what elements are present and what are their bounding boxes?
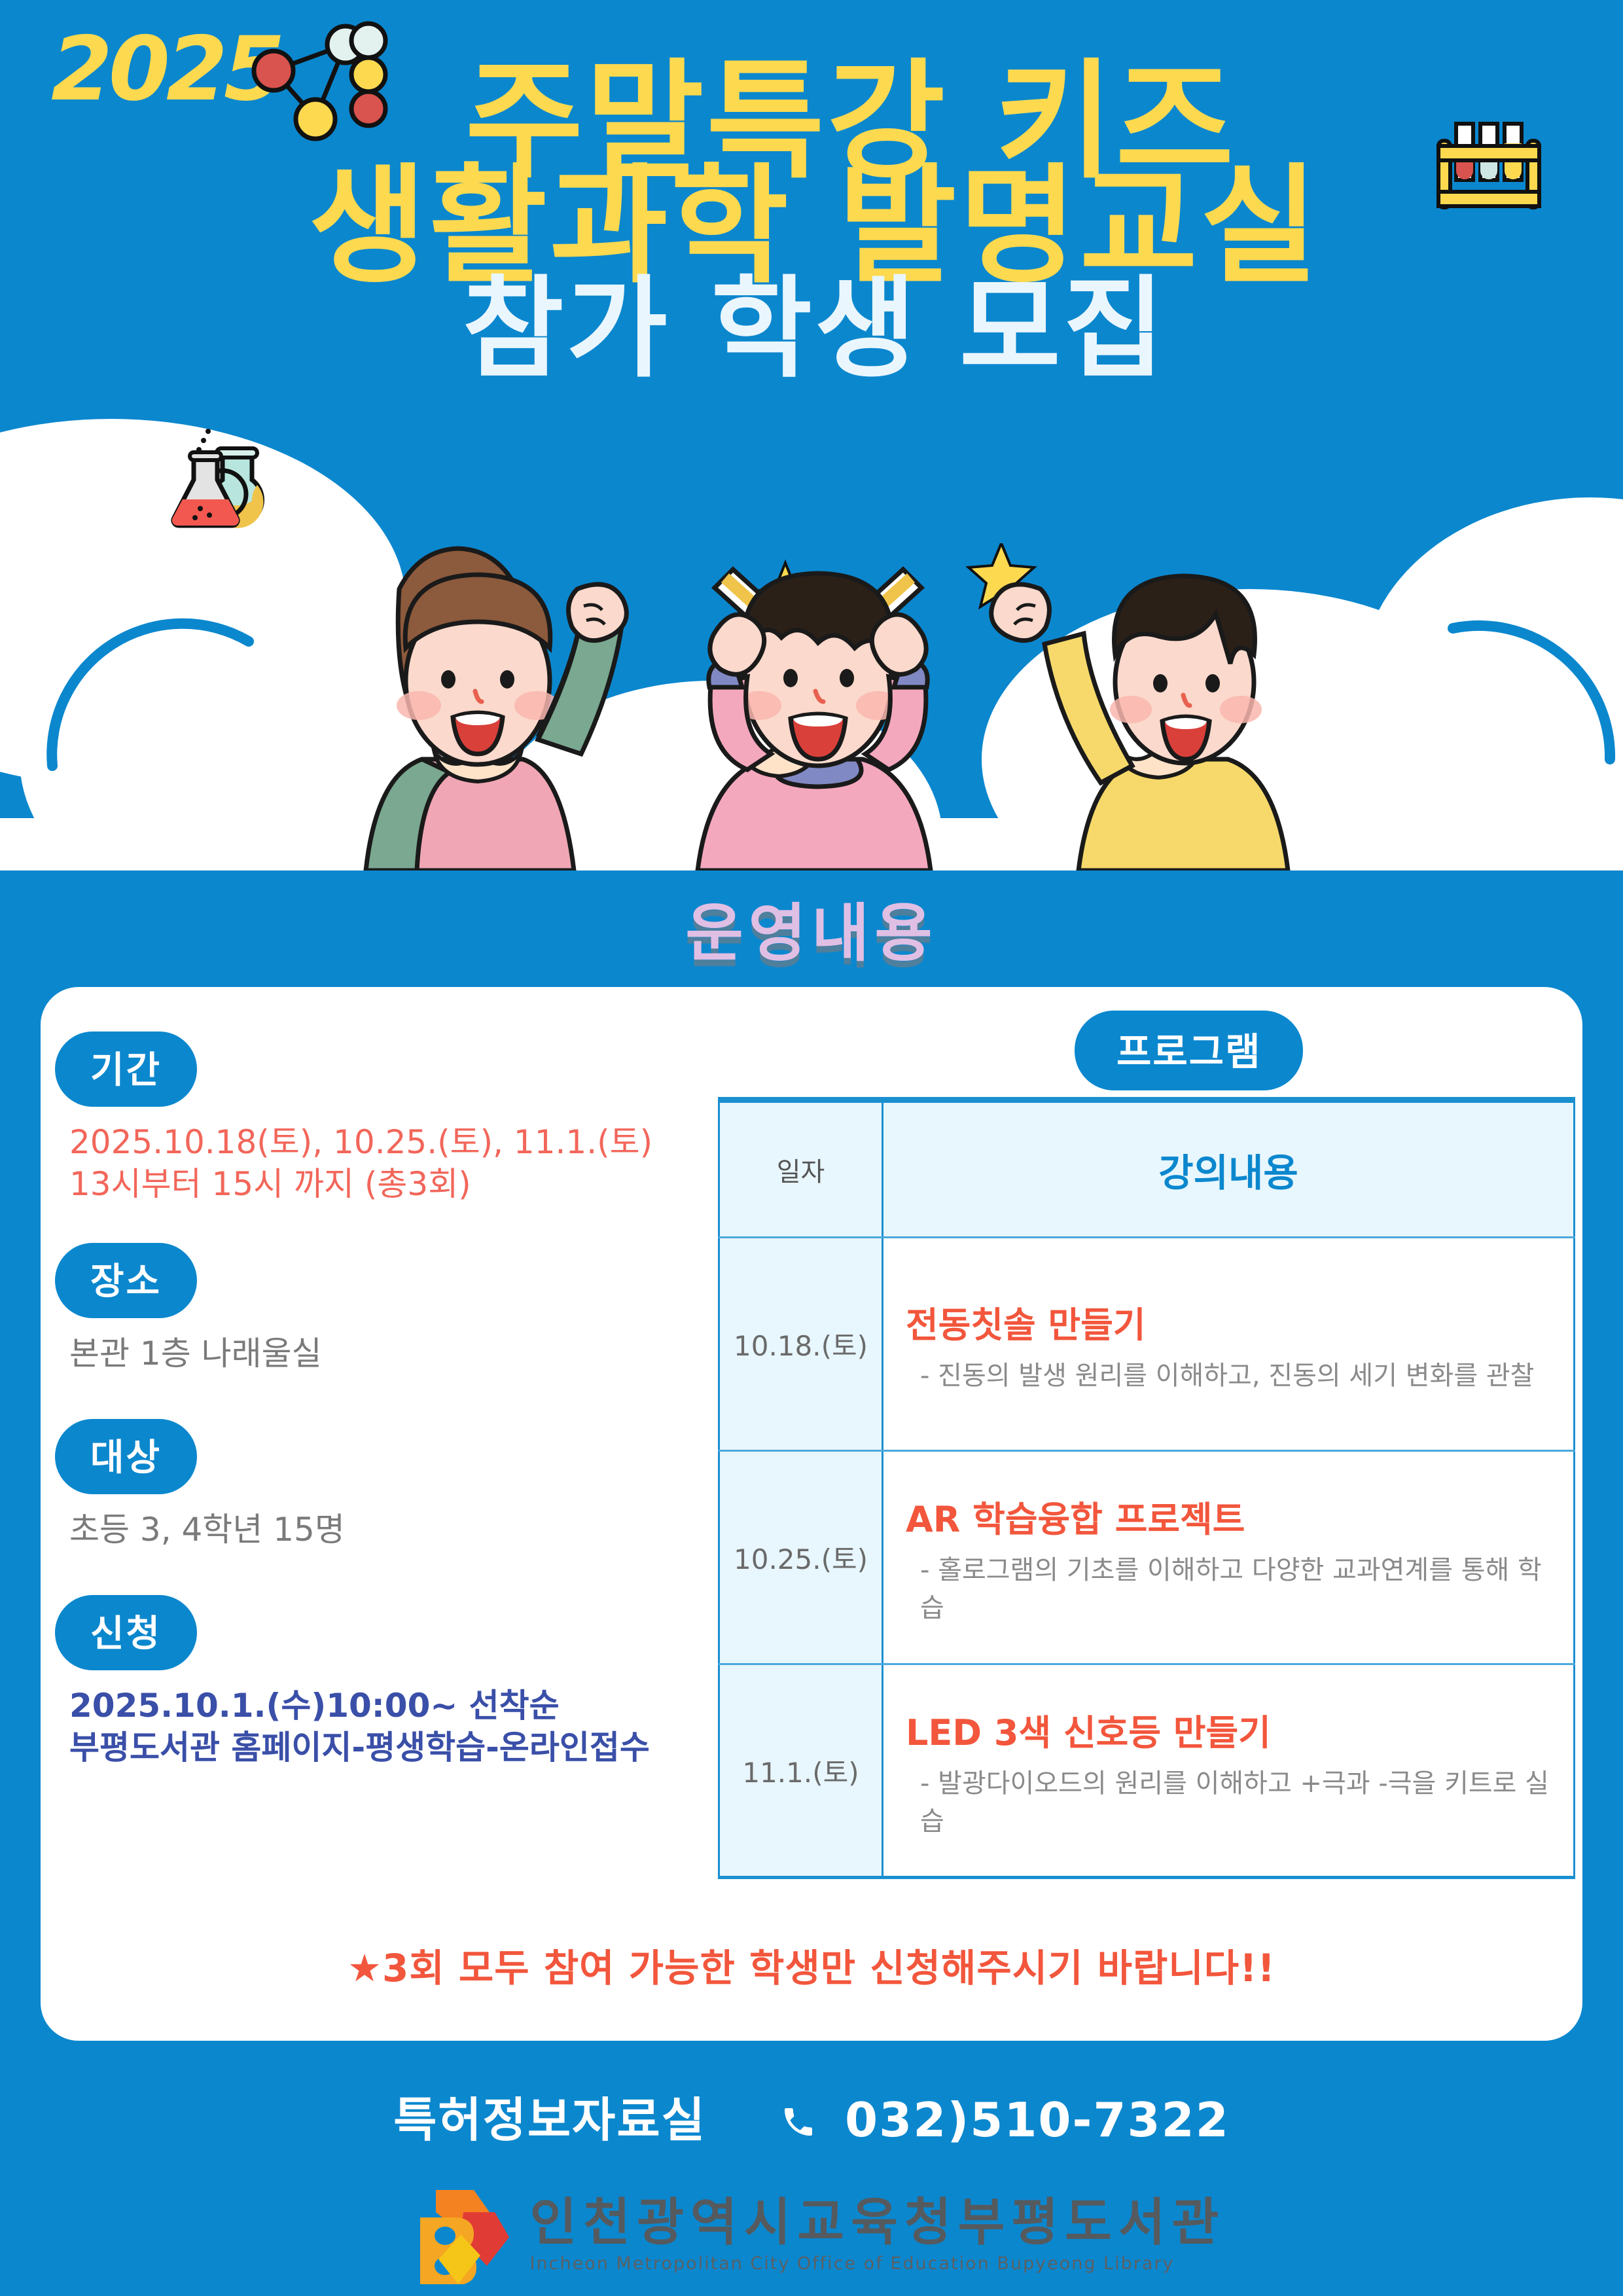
info-place: 장소 본관 1층 나래울실	[55, 1243, 683, 1374]
period-value: 2025.10.18(토), 10.25.(토), 11.1.(토) 13시부터…	[55, 1121, 683, 1205]
info-period: 기간 2025.10.18(토), 10.25.(토), 11.1.(토) 13…	[55, 1031, 683, 1205]
chip-target: 대상	[55, 1419, 197, 1494]
row-content: AR 학습융합 프로젝트 - 홀로그램의 기초를 이해하고 다양한 교과연계를 …	[883, 1451, 1575, 1664]
content-panel: 기간 2025.10.18(토), 10.25.(토), 11.1.(토) 13…	[41, 987, 1582, 2041]
table-row: 10.25.(토) AR 학습융합 프로젝트 - 홀로그램의 기초를 이해하고 …	[719, 1451, 1575, 1664]
hero-section: 2025	[0, 0, 1623, 870]
logo-mark-icon	[398, 2186, 513, 2284]
headline-block: 주말특강 키즈 생활과학 발명교실 참가 학생 모집	[0, 62, 1623, 380]
chip-program: 프로그램	[1075, 1011, 1303, 1090]
program-chip-wrap: 프로그램	[1075, 1011, 1303, 1090]
program-desc: - 진동의 발생 원리를 이해하고, 진동의 세기 변화를 관찰	[906, 1354, 1551, 1392]
poster-root: 2025	[0, 0, 1623, 2296]
table-header-content: 강의내용	[883, 1100, 1575, 1238]
footer-phone-number: 032)510-7322	[845, 2092, 1230, 2147]
row-date: 11.1.(토)	[719, 1664, 883, 1878]
program-title: 전동칫솔 만들기	[906, 1296, 1551, 1348]
section-title: 운영내용 운영내용	[0, 882, 1623, 973]
row-content: 전동칫솔 만들기 - 진동의 발생 원리를 이해하고, 진동의 세기 변화를 관…	[883, 1238, 1575, 1451]
logo-english-name: Incheon Metropolitan City Office of Educ…	[530, 2253, 1226, 2274]
chip-place: 장소	[55, 1243, 197, 1318]
program-title: LED 3색 신호등 만들기	[906, 1704, 1551, 1755]
notice-text: ★3회 모두 참여 가능한 학생만 신청해주시기 바랍니다!!	[41, 1937, 1582, 1992]
kid-left	[366, 548, 626, 870]
row-content: LED 3색 신호등 만들기 - 발광다이오드의 원리를 이해하고 +극과 -극…	[883, 1664, 1575, 1878]
footer-room-label: 특허정보자료실	[393, 2092, 706, 2147]
program-title: AR 학습융합 프로젝트	[906, 1490, 1551, 1542]
logo-korean-name: 인천광역시교육청부평도서관	[530, 2197, 1226, 2248]
program-table: 일자 강의내용 10.18.(토) 전동칫솔 만들기 - 진동의 발생 원리를 …	[718, 1097, 1575, 1879]
target-value: 초등 3, 4학년 15명	[55, 1509, 683, 1551]
program-desc: - 홀로그램의 기초를 이해하고 다양한 교과연계를 통해 학습	[906, 1549, 1551, 1624]
apply-value: 2025.10.1.(수)10:00~ 선착순 부평도서관 홈페이지-평생학습-…	[55, 1685, 683, 1768]
info-apply: 신청 2025.10.1.(수)10:00~ 선착순 부평도서관 홈페이지-평생…	[55, 1595, 683, 1768]
chip-apply: 신청	[55, 1595, 197, 1670]
headline-line-3: 참가 학생 모집	[0, 278, 1623, 380]
footer: 특허정보자료실 032)510-7322 인천광역시교육청부평도서관 Inche…	[0, 2055, 1623, 2296]
kid-right	[991, 576, 1288, 870]
kids-illustration	[281, 543, 1361, 870]
table-header-date: 일자	[719, 1100, 883, 1238]
chip-period: 기간	[55, 1031, 197, 1107]
table-header-row: 일자 강의내용	[719, 1100, 1575, 1238]
footer-contact: 특허정보자료실 032)510-7322	[0, 2081, 1623, 2150]
flask-icon	[169, 422, 293, 537]
table-row: 10.18.(토) 전동칫솔 만들기 - 진동의 발생 원리를 이해하고, 진동…	[719, 1238, 1575, 1451]
table-row: 11.1.(토) LED 3색 신호등 만들기 - 발광다이오드의 원리를 이해…	[719, 1664, 1575, 1878]
program-desc: - 발광다이오드의 원리를 이해하고 +극과 -극을 키트로 실습	[906, 1762, 1551, 1838]
library-logo: 인천광역시교육청부평도서관 Incheon Metropolitan City …	[0, 2186, 1623, 2284]
section-title-front: 운영내용	[0, 882, 1623, 973]
place-value: 본관 1층 나래울실	[55, 1333, 683, 1374]
info-target: 대상 초등 3, 4학년 15명	[55, 1419, 683, 1551]
arc-decoration-right	[1446, 609, 1623, 766]
arc-decoration-left	[39, 615, 262, 772]
info-column: 기간 2025.10.18(토), 10.25.(토), 11.1.(토) 13…	[55, 1031, 683, 1778]
row-date: 10.18.(토)	[719, 1238, 883, 1451]
phone-icon	[780, 2096, 817, 2151]
kid-center	[698, 569, 931, 870]
row-date: 10.25.(토)	[719, 1451, 883, 1664]
logo-text-block: 인천광역시교육청부평도서관 Incheon Metropolitan City …	[530, 2197, 1226, 2274]
